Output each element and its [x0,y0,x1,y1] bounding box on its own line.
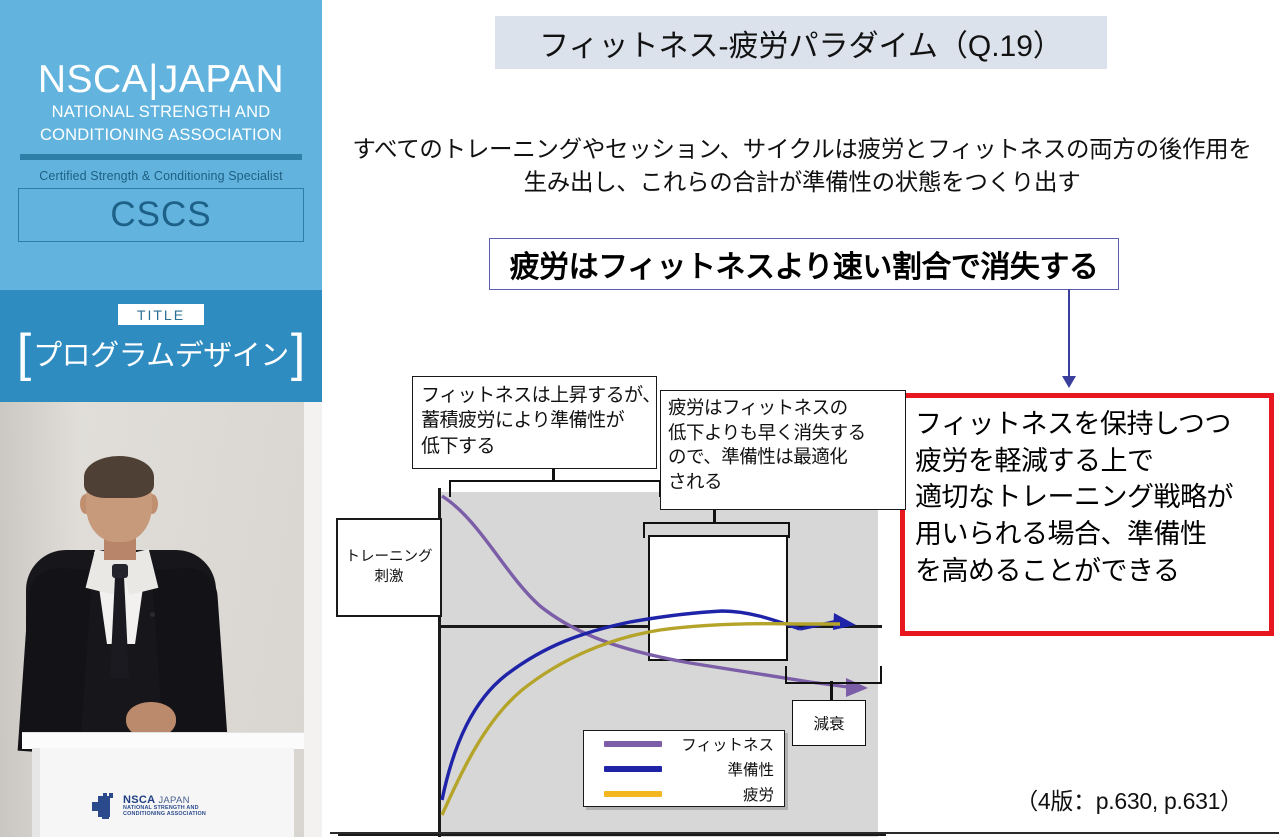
legend-item-preparedness: 準備性 [584,756,784,781]
bracket-close: ] [291,330,305,377]
legend-label-fatigue: 疲労 [662,783,784,805]
chart-legend: フィットネス 準備性 疲労 [583,730,785,807]
note-fatigue-line-3: ので、準備性は最適化 [668,445,905,470]
legend-label-preparedness: 準備性 [662,758,784,780]
lapel-microphone-icon [150,612,155,617]
brand-card: NSCA|JAPAN NATIONAL STRENGTH AND CONDITI… [0,0,322,290]
lead-line-1: すべてのトレーニングやセッション、サイクルは疲労とフィットネスの両方の後作用を [330,133,1274,166]
certification-caption: Certified Strength & Conditioning Specia… [18,169,304,183]
nsca-mark-icon [92,793,118,819]
bracket-peak-stem [713,510,716,523]
video-wall-right [304,402,322,837]
legend-item-fatigue: 疲労 [584,781,784,806]
brand-divider [20,154,302,160]
chart-bottom-rule [338,834,886,836]
lead-line-2: 生み出し、これらの合計が準備性の状態をつくり出す [330,166,1274,199]
note-fatigue-line-1: 疲労はフィットネスの [668,396,905,421]
presenter-shoulder-left [18,566,93,755]
annotation-fatigue-dissipates: 疲労はフィットネスの 低下よりも早く消失する ので、準備性は最適化 される [660,390,906,510]
legend-swatch-fitness [604,741,662,747]
training-stimulus-line-2: 刺激 [375,568,404,588]
lead-paragraph: すべてのトレーニングやセッション、サイクルは疲労とフィットネスの両方の後作用を … [330,133,1274,200]
presenter-hair [84,456,154,498]
org-subtitle-line2: CONDITIONING ASSOCIATION [18,126,304,145]
podium-logo-text: NSCA JAPAN NATIONAL STRENGTH AND CONDITI… [123,795,206,818]
podium-edge [32,748,40,837]
left-panel: NSCA|JAPAN NATIONAL STRENGTH AND CONDITI… [0,0,322,837]
annotation-training-stimulus: トレーニング 刺激 [336,518,442,617]
org-subtitle-line1: NATIONAL STRENGTH AND [18,103,304,122]
bracket-peak-region [643,522,790,538]
conclusion-line-5: を高めることができる [915,553,1269,590]
legend-swatch-fatigue [604,791,662,797]
conclusion-line-3: 適切なトレーニング戦略が [915,479,1269,516]
podium-logo: NSCA JAPAN NATIONAL STRENGTH AND CONDITI… [92,790,242,822]
key-claim-text: 疲労はフィットネスより速い割合で消失する [510,242,1099,286]
topic-row: [ プログラムデザイン ] [0,330,322,377]
note-fitness-line-3: 低下する [421,434,656,459]
title-label: TITLE [137,307,185,323]
conclusion-box: フィットネスを保持しつつ 疲労を軽減する上で 適切なトレーニング戦略が 用いられ… [900,393,1274,636]
note-fatigue-line-2: 低下よりも早く消失する [668,421,905,446]
conclusion-inner: フィットネスを保持しつつ 疲労を軽減する上で 適切なトレーニング戦略が 用いられ… [905,398,1269,590]
certification-code-box: CSCS [18,188,304,242]
note-fitness-line-2: 蓄積疲労により準備性が [421,408,656,433]
slide-title-band: フィットネス-疲労パラダイム（Q.19） [495,16,1107,69]
legend-item-fitness: フィットネス [584,731,784,756]
conclusion-line-4: 用いられる場合、準備性 [915,516,1269,553]
fitness-fatigue-chart: トレーニング 刺激 フィットネスは上昇するが、 蓄積疲労により準備性が 低下する… [330,370,898,837]
podium-logo-suffix: JAPAN [158,795,189,806]
bracket-fitness-stem [552,469,555,481]
brand-inner: NSCA|JAPAN NATIONAL STRENGTH AND CONDITI… [18,60,304,242]
bracket-fitness-region [449,480,661,497]
annotation-decay: 減衰 [792,700,866,746]
citation-text: （4版：p.630, p.631） [1015,788,1243,814]
presenter-video[interactable]: NSCA JAPAN NATIONAL STRENGTH AND CONDITI… [0,402,322,837]
key-claim-box: 疲労はフィットネスより速い割合で消失する [489,238,1119,290]
podium-top [22,732,304,749]
slide-screenshot: NSCA|JAPAN NATIONAL STRENGTH AND CONDITI… [0,0,1279,837]
slide-title-text: フィットネス-疲労パラダイム（Q.19） [539,21,1063,65]
certification-code: CSCS [110,195,211,235]
title-label-pill: TITLE [118,304,204,325]
decay-label: 減衰 [813,712,844,734]
podium-logo-sub2: CONDITIONING ASSOCIATION [123,812,206,818]
bracket-decay-region [785,666,882,684]
note-fitness-line-1: フィットネスは上昇するが、 [421,383,656,408]
citation: （4版：p.630, p.631） [984,782,1274,816]
title-card: TITLE [ プログラムデザイン ] [0,290,322,402]
legend-label-fitness: フィットネス [662,733,784,755]
legend-swatch-preparedness [604,766,662,772]
bracket-decay-stem [830,681,833,701]
bracket-open: [ [17,330,31,377]
conclusion-line-1: フィットネスを保持しつつ [915,406,1269,443]
slide-bottom-rule [330,832,1279,834]
topic-title: プログラムデザイン [31,332,291,374]
note-fatigue-line-4: される [668,470,905,495]
podium-logo-name-text: NSCA [123,794,155,806]
slide-content: フィットネス-疲労パラダイム（Q.19） すべてのトレーニングやセッション、サイ… [322,0,1279,837]
training-stimulus-line-1: トレーニング [346,548,433,568]
presenter-tie-knot [112,564,128,578]
annotation-fitness-rises: フィットネスは上昇するが、 蓄積疲労により準備性が 低下する [412,376,657,469]
claim-to-conclusion-arrow-icon [1062,376,1076,388]
claim-to-conclusion-arrow-shaft [1068,289,1070,384]
peak-highlight-window [648,535,788,661]
org-name: NSCA|JAPAN [18,60,304,99]
conclusion-line-2: 疲労を軽減する上で [915,443,1269,480]
